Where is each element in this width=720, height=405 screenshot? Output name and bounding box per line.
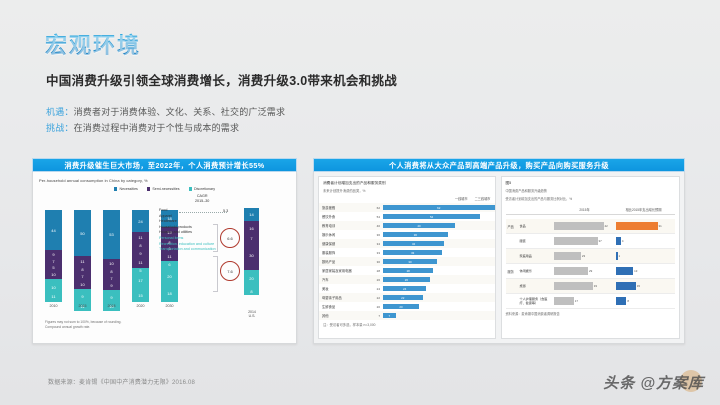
cagr-ring-semi: 6.6 <box>220 228 240 248</box>
bar-row-value: 40 <box>371 224 380 228</box>
table-value: 31 <box>659 224 662 228</box>
bar-row-label: 教育培训 <box>319 223 371 228</box>
footnote-2: Compound annual growth rate. <box>45 325 121 330</box>
reference-bar-segment: 8 <box>244 288 259 295</box>
bar-column: 5310879910 <box>103 210 120 311</box>
table-value: 29 <box>589 269 592 273</box>
legend-label: Discretionary <box>194 187 215 191</box>
table-value: 17 <box>575 299 578 303</box>
table-row-name: 休闲娱乐 <box>520 269 554 273</box>
legend-label: Semi-necessities <box>152 187 179 191</box>
horizontal-bar-row: 健康保健3434 <box>319 239 495 248</box>
bar-row-bar: 40 <box>383 223 455 228</box>
table-cell-delta: 4 <box>616 237 672 245</box>
bar-row-value: 22 <box>371 296 380 300</box>
watermark-text: 头条 @方案库 <box>603 372 704 393</box>
bar-segment: 24 <box>132 210 149 232</box>
table-bar-gray <box>554 297 574 305</box>
table-row-name: 旅游 <box>520 284 554 288</box>
table-value: 33 <box>594 284 597 288</box>
horizontal-bar-row: 餐饮外食5454 <box>319 212 495 221</box>
panel-left-header: 消费升级催生巨大市场，至2022年，个人消费预计增长55% <box>32 158 297 172</box>
table-row-name: 家庭用品 <box>520 254 554 258</box>
table-chart-title: 图5 <box>506 181 676 186</box>
bar-row-label: 餐饮外食 <box>319 214 371 219</box>
bar-segment: 18 <box>161 285 178 302</box>
footnote-1: Figures may not sum to 100%, because of … <box>45 320 121 325</box>
table-bar-gray <box>554 222 604 230</box>
bar-row-track: 40 <box>380 223 495 228</box>
horizontal-bar-row: 美妆2424 <box>319 284 495 293</box>
bar-row-label: 娱乐休闲 <box>319 232 371 237</box>
table-chart-header: 2015年 相比2015年支出增长预期 <box>506 207 676 215</box>
table-cell-delta: 15 <box>616 282 672 290</box>
table-cell-2015: 42 <box>554 222 616 230</box>
bar-row-track: 36 <box>380 232 495 237</box>
bar-row-label: 美妆 <box>319 286 371 291</box>
reference-bar-segment: 20 <box>244 270 259 288</box>
bar-row-label: 生鲜食品 <box>319 304 371 309</box>
bar-row-value: 7 <box>371 314 380 318</box>
bar-row-bar: 54 <box>383 214 480 219</box>
bar-row-bar: 26 <box>383 277 430 282</box>
chart-caption: Per-household annual consumption in Chin… <box>39 178 290 183</box>
bar-row-track: 30 <box>380 259 495 264</box>
table-row: 服装374 <box>506 234 676 249</box>
bar-row-bar: 7 <box>383 313 396 318</box>
bar-row-value: 24 <box>371 287 380 291</box>
reference-bar-segment: 16 <box>244 221 259 236</box>
bar-segment: 9 <box>74 293 91 301</box>
bar-row-value: 54 <box>371 215 380 219</box>
horizontal-bar-row: 家居家装及家用电器2828 <box>319 266 495 275</box>
table-cell-2015: 37 <box>554 237 616 245</box>
bar-row-label: 母婴亲子用品 <box>319 295 371 300</box>
bar-row-track: 20 <box>380 304 495 309</box>
table-bar-delta <box>616 252 618 260</box>
bar-segment: 11 <box>45 292 62 302</box>
bullet-text: 在消费过程中消费对于个性与成本的需求 <box>74 123 240 133</box>
table-cell-2015: 17 <box>554 297 616 305</box>
table-value: 15 <box>637 284 640 288</box>
horizontal-bar-row: 生鲜食品2020 <box>319 302 495 311</box>
bar-segment: 10 <box>103 259 120 268</box>
horizontal-bar-row: 汽车2626 <box>319 275 495 284</box>
horizontal-bar-row: 母婴亲子用品2222 <box>319 293 495 302</box>
table-cell-delta: 1 <box>616 252 672 260</box>
chart-footnotes: Figures may not sum to 100%, because of … <box>45 320 121 329</box>
bar-segment: 20 <box>161 267 178 285</box>
table-row: 个人护理服务（含医疗、健康等）178 <box>506 294 676 309</box>
legend-item-necessities: Necessities <box>114 187 138 191</box>
legend-item-semi-necessities: Semi-necessities <box>147 187 180 191</box>
bar-row-track: 7 <box>380 313 495 318</box>
reference-column-label: 2014U.S. <box>239 310 265 319</box>
bar-row-label: 健康保健 <box>319 241 371 246</box>
bar-row-value: 30 <box>371 260 380 264</box>
legend-label: Necessities <box>119 187 137 191</box>
panel-right-header: 个人消费将从大众产品到高端产品升级，购买产品向购买服务升级 <box>313 158 685 172</box>
table-row-group: 服务 <box>506 269 520 274</box>
slide-canvas: 宏观环境 中国消费升级引领全球消费增长，消费升级3.0带来机会和挑战 机遇：消费… <box>0 0 720 405</box>
bar-row-track: 28 <box>380 268 495 273</box>
bar-row-value: 28 <box>371 269 380 273</box>
cagr-ring-discretionary: 7.6 <box>220 261 240 281</box>
table-bar-delta <box>616 282 636 290</box>
table-bar-delta <box>616 297 627 305</box>
table-value: 37 <box>599 239 602 243</box>
x-axis-label: 2010 <box>45 304 62 308</box>
bar-segment: 9 <box>132 250 149 258</box>
table-row: 旅游3315 <box>506 279 676 294</box>
bar-row-value: 62 <box>371 206 380 210</box>
horizontal-bar-row: 数码产品3030 <box>319 257 495 266</box>
legend-swatch <box>147 187 151 191</box>
bar-row-track: 62 <box>380 205 495 210</box>
table-value: 13 <box>634 269 637 273</box>
bar-segment: 10 <box>45 270 62 279</box>
table-row-name: 食品 <box>520 224 554 228</box>
bar-row-bar: 24 <box>383 286 426 291</box>
bar-segment: 11 <box>132 232 149 242</box>
bar-row-track: 22 <box>380 295 495 300</box>
bullet-text: 消费者对于消费体验、文化、关系、社交的广泛需求 <box>74 107 286 117</box>
x-axis-label: 2018 <box>103 304 120 308</box>
bar-segment: 8 <box>74 266 91 273</box>
table-chart-note: 受访者计划增加支出的产品与服务比例对比，% <box>506 197 676 202</box>
category-labels: FoodApparelHealthcareHousehold productsH… <box>159 208 229 253</box>
table-cell-2015: 23 <box>554 252 616 260</box>
horizontal-bar-row: 娱乐休闲3636 <box>319 230 495 239</box>
bar-segment: 11 <box>161 251 178 261</box>
table-value: 8 <box>627 299 629 303</box>
panel-right: 个人消费将从大众产品到高端产品升级，购买产品向购买服务升级 消费者计划增加支出的… <box>313 158 685 344</box>
bar-row-track: 54 <box>380 214 495 219</box>
x-axis-label: 2020 <box>132 304 149 308</box>
bar-column: 50118710911 <box>74 210 91 311</box>
bar-segment: 44 <box>45 210 62 250</box>
source-note: 数据来源：麦肯锡《中国中产消费潜力无限》2016.08 <box>48 377 195 386</box>
bar-row-label: 其他 <box>319 313 371 318</box>
x-axis-label: 2015 <box>74 304 91 308</box>
table-bar-gray <box>554 252 581 260</box>
bar-row-track: 33 <box>380 250 495 255</box>
bar-segment: 11 <box>74 256 91 266</box>
bar-row-value: 20 <box>371 305 380 309</box>
table-value: 42 <box>605 224 608 228</box>
table-cell-2015: 33 <box>554 282 616 290</box>
leader-line <box>179 212 227 213</box>
table-row: 服务休闲娱乐2913 <box>506 264 676 279</box>
column-header-2015: 2015年 <box>554 207 616 212</box>
bar-row-bar: 36 <box>383 232 448 237</box>
table-row-group: 产品 <box>506 224 520 229</box>
column-header-delta: 相比2015年支出增长预期 <box>616 207 672 212</box>
bar-segment: 8 <box>132 242 149 249</box>
stacked-bar-chart: Per-household annual consumption in Chin… <box>39 178 290 337</box>
horizontal-bar-row: 服装服饰3333 <box>319 248 495 257</box>
bar-column: 44975101011 <box>45 210 62 311</box>
table-bar-delta <box>616 267 634 275</box>
table-chart-rows: 产品食品4231服装374家庭用品231服务休闲娱乐2913旅游3315个人护理… <box>502 219 680 309</box>
legend-swatch <box>189 187 193 191</box>
table-chart-subtitle: 中国消费产品和服务升级趋势 <box>506 189 676 194</box>
table-cell-delta: 8 <box>616 297 672 305</box>
bullet-item-challenge: 挑战：在消费过程中消费对于个性与成本的需求 <box>46 120 285 136</box>
page-title: 宏观环境 <box>45 28 141 60</box>
bar-segment: 9 <box>45 250 62 258</box>
bar-segment: 17 <box>132 273 149 289</box>
bar-segment: 53 <box>103 210 120 259</box>
bar-row-track: 24 <box>380 286 495 291</box>
cagr-food-value: 5.3 <box>223 209 228 213</box>
bar-segment: 9 <box>103 294 120 302</box>
bar-row-value: 36 <box>371 233 380 237</box>
table-cell-2015: 29 <box>554 267 616 275</box>
legend-item-discretionary: Discretionary <box>189 187 215 191</box>
bar-segment: 50 <box>74 210 91 256</box>
legend-swatch <box>114 187 118 191</box>
bullet-lead: 挑战： <box>46 123 74 133</box>
table-value: 1 <box>619 254 621 258</box>
bar-column: 2411891151715 <box>132 210 149 311</box>
table-row-name: 个人护理服务（含医疗、健康等） <box>520 297 554 305</box>
table-row: 产品食品4231 <box>506 219 676 234</box>
horizontal-bar-row: 教育培训4040 <box>319 221 495 230</box>
bar-row-label: 汽车 <box>319 277 371 282</box>
bar-row-label: 服装服饰 <box>319 250 371 255</box>
table-bar-delta <box>616 222 658 230</box>
mid-chart-title: 消费者计划增加支出的产品和服务类别 <box>323 181 491 186</box>
table-bar-gray <box>554 267 589 275</box>
table-cell-delta: 13 <box>616 267 672 275</box>
table-row: 家庭用品231 <box>506 249 676 264</box>
panel-left-body: Per-household annual consumption in Chin… <box>32 172 297 344</box>
category-label: Transportation and communication <box>159 247 229 253</box>
bar-segment: 10 <box>74 280 91 289</box>
card-table-chart: 图5 中国消费产品和服务升级趋势 受访者计划增加支出的产品与服务比例对比，% 2… <box>501 176 681 339</box>
chart-legend: Necessities Semi-necessities Discretiona… <box>39 187 290 191</box>
bracket-semi <box>213 224 218 252</box>
bar-row-bar: 30 <box>383 259 437 264</box>
mid-chart-legend: 一线城市 二三线城市 <box>323 196 491 201</box>
horizontal-bar-rows: 旅游度假6262餐饮外食5454教育培训4040娱乐休闲3636健康保健3434… <box>319 203 495 320</box>
bar-row-label: 家居家装及家用电器 <box>319 268 371 273</box>
bar-segment: 10 <box>45 283 62 292</box>
bar-segment: 15 <box>132 288 149 302</box>
horizontal-bar-row: 其他77 <box>319 311 495 320</box>
x-axis-labels: 20102015201820202030 <box>45 304 178 308</box>
bullet-lead: 机遇： <box>46 107 74 117</box>
card-horizontal-bar-chart: 消费者计划增加支出的产品和服务类别 未来计划提升消费的品类，% 一线城市 二三线… <box>318 176 496 339</box>
table-bar-gray <box>554 237 598 245</box>
table-chart-footnote: 资料来源：麦肯锡中国消费者调研报告 <box>502 309 680 320</box>
bracket-discretionary <box>213 256 218 292</box>
horizontal-bar-row: 旅游度假6262 <box>319 203 495 212</box>
reference-bar-segment: 14 <box>244 208 259 221</box>
bar-row-value: 26 <box>371 278 380 282</box>
bar-row-label: 数码产品 <box>319 259 371 264</box>
table-value: 23 <box>582 254 585 258</box>
bullet-list: 机遇：消费者对于消费体验、文化、关系、社交的广泛需求 挑战：在消费过程中消费对于… <box>46 104 285 136</box>
bar-row-label: 旅游度假 <box>319 205 371 210</box>
table-row-name: 服装 <box>520 239 554 243</box>
bullet-item-opportunity: 机遇：消费者对于消费体验、文化、关系、社交的广泛需求 <box>46 104 285 120</box>
page-subtitle: 中国消费升级引领全球消费增长，消费升级3.0带来机会和挑战 <box>46 70 397 89</box>
bar-segment: 11 <box>132 258 149 268</box>
bar-segment: 9 <box>103 282 120 290</box>
bar-row-bar: 34 <box>383 241 444 246</box>
table-bar-delta <box>616 237 621 245</box>
bar-row-track: 34 <box>380 241 495 246</box>
bar-row-track: 26 <box>380 277 495 282</box>
x-axis-label: 2030 <box>161 304 178 308</box>
mid-chart-subtitle: 未来计划提升消费的品类，% <box>323 188 491 193</box>
legend-label: 一线城市 <box>455 196 468 201</box>
bar-segment: 8 <box>103 268 120 275</box>
panel-right-body: 消费者计划增加支出的产品和服务类别 未来计划提升消费的品类，% 一线城市 二三线… <box>313 172 685 344</box>
bar-row-value: 34 <box>371 242 380 246</box>
cagr-title: CAGR2015–30 <box>195 194 209 203</box>
bar-row-bar: 62 <box>383 205 495 210</box>
reference-bar-segment: 30 <box>244 242 259 270</box>
table-bar-gray <box>554 282 593 290</box>
panel-left: 消费升级催生巨大市场，至2022年，个人消费预计增长55% Per-househ… <box>32 158 297 344</box>
bar-row-bar: 33 <box>383 250 442 255</box>
mid-chart-footnote: 注：受访者可多选，样本量 n=3,000 <box>319 320 495 329</box>
reference-column-us: 1416730208 <box>244 208 259 295</box>
bar-row-bar: 22 <box>383 295 423 300</box>
table-cell-delta: 31 <box>616 222 672 230</box>
bar-row-bar: 20 <box>383 304 419 309</box>
bar-row-bar: 28 <box>383 268 433 273</box>
table-value: 4 <box>622 239 624 243</box>
bar-row-value: 33 <box>371 251 380 255</box>
legend-label: 二三线城市 <box>475 196 491 201</box>
